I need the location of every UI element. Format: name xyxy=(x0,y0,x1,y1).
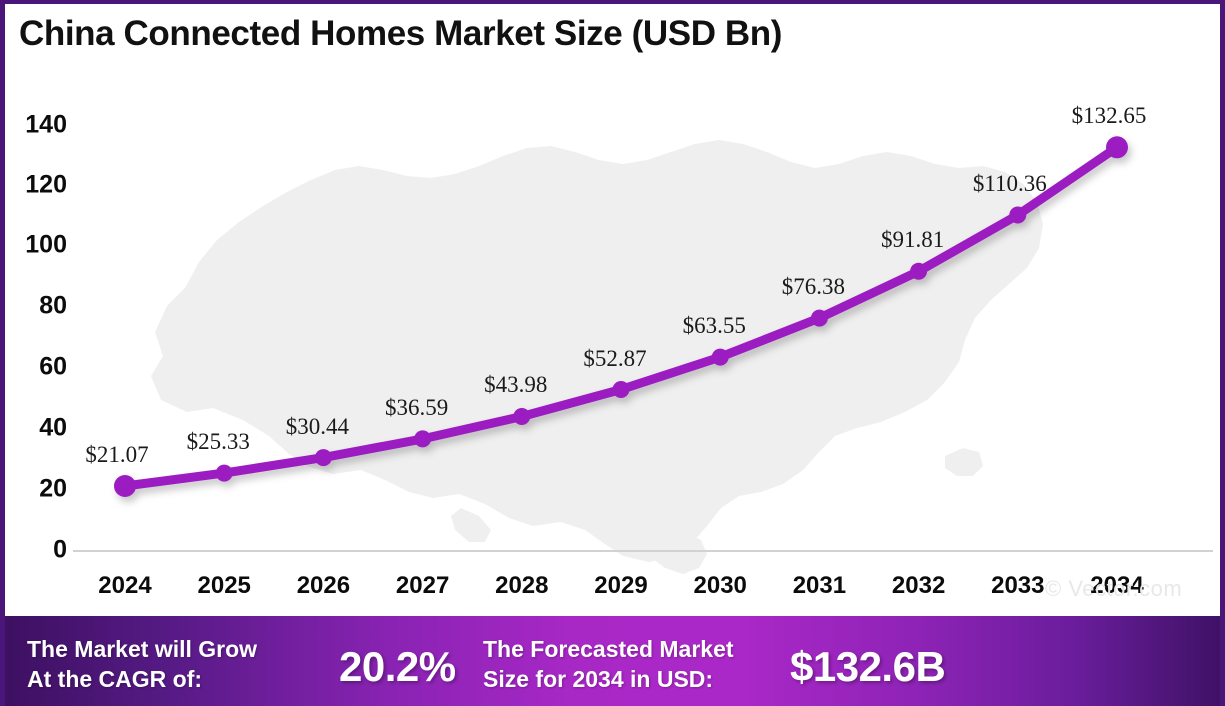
x-tick-label: 2033 xyxy=(991,572,1044,600)
x-tick-label: 2025 xyxy=(197,572,250,600)
data-point-label: $36.59 xyxy=(385,395,448,421)
data-point-label: $110.36 xyxy=(973,171,1047,197)
data-point xyxy=(811,310,828,327)
data-point-label: $132.65 xyxy=(1072,103,1147,129)
data-point xyxy=(216,465,233,482)
data-point-label: $76.38 xyxy=(782,274,845,300)
cagr-label-line2: At the CAGR of: xyxy=(27,664,202,694)
data-point-label: $91.81 xyxy=(881,227,944,253)
footer-banner: The Market will Grow At the CAGR of: 20.… xyxy=(5,616,1220,706)
data-point xyxy=(910,263,927,280)
forecast-value: $132.6B xyxy=(790,643,945,691)
data-point xyxy=(1106,136,1128,158)
chart-page: China Connected Homes Market Size (USD B… xyxy=(0,0,1225,706)
x-tick-label: 2032 xyxy=(892,572,945,600)
x-tick-label: 2031 xyxy=(793,572,846,600)
x-tick-label: 2027 xyxy=(396,572,449,600)
data-point-label: $63.55 xyxy=(683,313,746,339)
x-tick-label: 2029 xyxy=(594,572,647,600)
page-title: China Connected Homes Market Size (USD B… xyxy=(19,14,782,54)
data-point-label: $21.07 xyxy=(85,442,148,468)
forecast-label-line2: Size for 2034 in USD: xyxy=(483,664,713,694)
data-point-label: $43.98 xyxy=(484,372,547,398)
data-point xyxy=(513,408,530,425)
data-point-label: $30.44 xyxy=(286,414,349,440)
line-series xyxy=(5,60,1220,616)
cagr-value: 20.2% xyxy=(339,643,456,691)
x-tick-label: 2030 xyxy=(693,572,746,600)
data-point xyxy=(114,475,136,497)
cagr-label-line1: The Market will Grow xyxy=(27,634,257,664)
x-tick-label: 2034 xyxy=(1090,572,1143,600)
data-point xyxy=(315,449,332,466)
data-point-label: $25.33 xyxy=(187,429,250,455)
data-point xyxy=(613,381,630,398)
data-point xyxy=(1009,207,1026,224)
x-tick-label: 2026 xyxy=(297,572,350,600)
plot-area: 140 120 100 80 60 40 20 0 $21.07$25.33$3… xyxy=(5,60,1220,616)
data-point xyxy=(712,349,729,366)
data-point-label: $52.87 xyxy=(583,346,646,372)
data-point xyxy=(414,430,431,447)
x-tick-label: 2024 xyxy=(98,572,151,600)
x-tick-label: 2028 xyxy=(495,572,548,600)
forecast-label-line1: The Forecasted Market xyxy=(483,634,734,664)
